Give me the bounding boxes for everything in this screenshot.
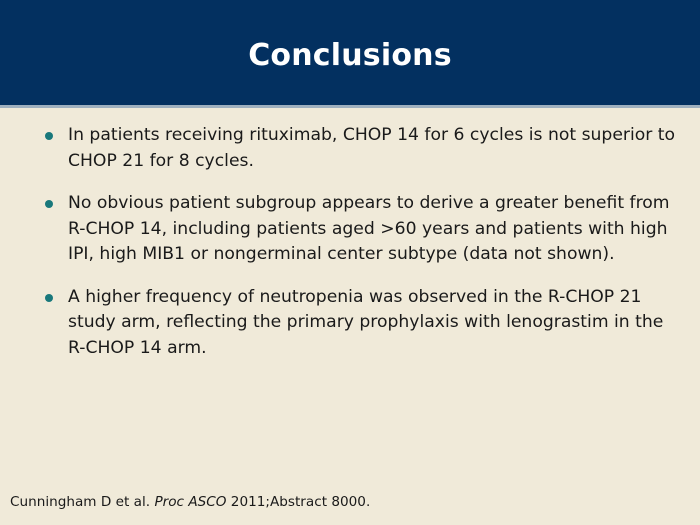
- bullet-list: In patients receiving rituximab, CHOP 14…: [34, 123, 682, 361]
- bullet-dot-icon: [45, 132, 53, 140]
- bullet-dot-icon: [45, 294, 53, 302]
- page-title: Conclusions: [248, 35, 452, 71]
- list-item: No obvious patient subgroup appears to d…: [34, 191, 682, 268]
- list-item-text: No obvious patient subgroup appears to d…: [68, 191, 682, 268]
- citation-authors: Cunningham D et al.: [10, 494, 150, 510]
- list-item: A higher frequency of neutropenia was ob…: [34, 285, 682, 362]
- list-item-text: A higher frequency of neutropenia was ob…: [68, 285, 682, 362]
- citation-reference: 2011;Abstract 8000.: [231, 494, 370, 510]
- citation-journal: Proc ASCO: [154, 494, 226, 510]
- bullet-dot-icon: [45, 200, 53, 208]
- title-band: Conclusions: [0, 0, 700, 105]
- list-item: In patients receiving rituximab, CHOP 14…: [34, 123, 682, 174]
- slide: Conclusions In patients receiving rituxi…: [0, 0, 700, 525]
- list-item-text: In patients receiving rituximab, CHOP 14…: [68, 123, 682, 174]
- slide-body: In patients receiving rituximab, CHOP 14…: [0, 108, 700, 468]
- citation-footer: Cunningham D et al. Proc ASCO 2011;Abstr…: [10, 493, 670, 511]
